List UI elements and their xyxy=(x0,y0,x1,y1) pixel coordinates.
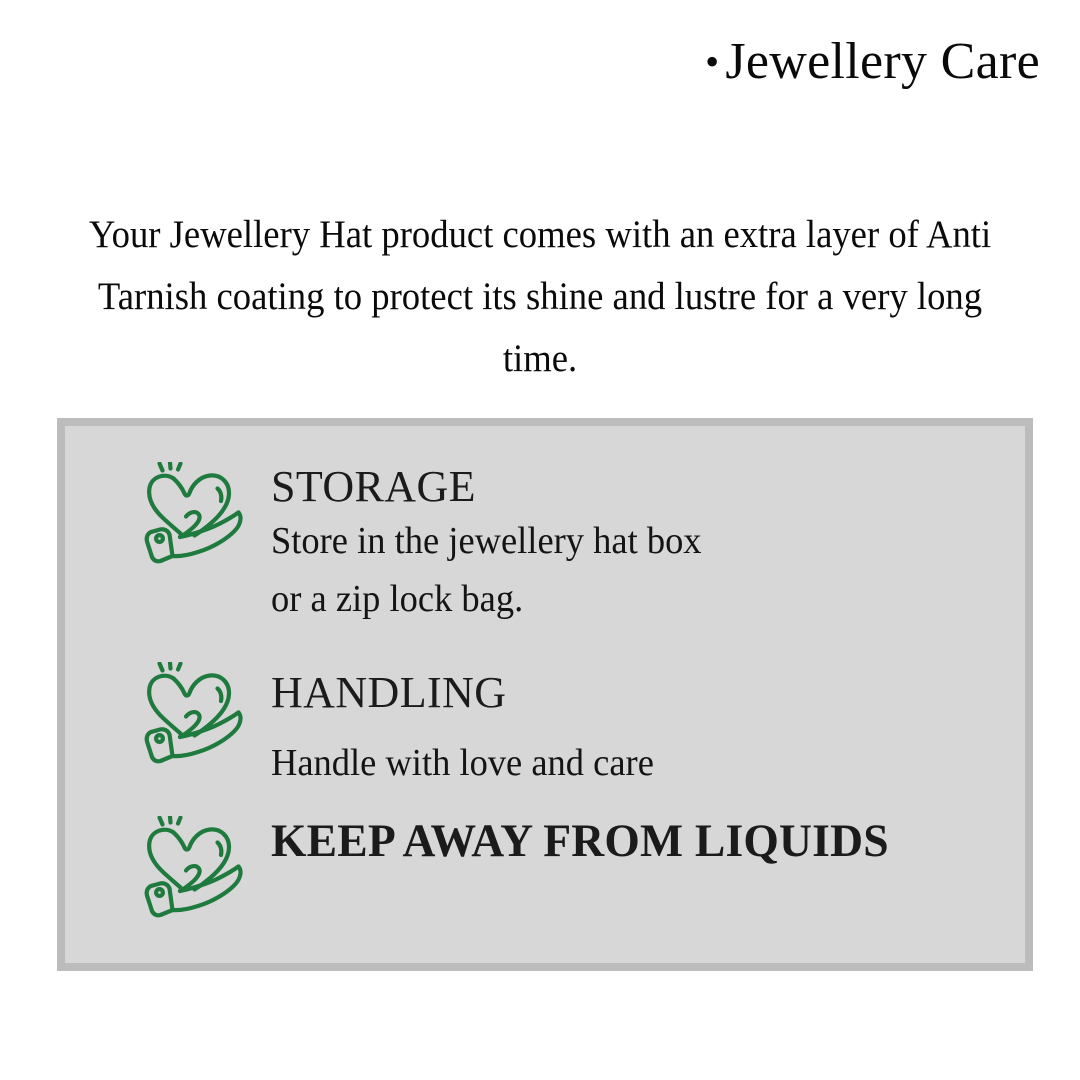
care-item-storage: STORAGE Store in the jewellery hat box o… xyxy=(143,460,1007,628)
care-item-text: KEEP AWAY FROM LIQUIDS xyxy=(271,814,1007,866)
care-item-liquids: KEEP AWAY FROM LIQUIDS xyxy=(143,814,1007,920)
care-instructions-panel: STORAGE Store in the jewellery hat box o… xyxy=(57,418,1033,971)
page-title-text: Jewellery Care xyxy=(725,33,1040,90)
heart-in-hand-icon xyxy=(143,662,247,766)
care-item-line: Handle with love and care xyxy=(271,734,978,792)
heart-in-hand-icon xyxy=(143,462,247,566)
page-title: •Jewellery Care xyxy=(705,34,1040,90)
care-item-text: STORAGE Store in the jewellery hat box o… xyxy=(271,460,1007,628)
care-item-line: Store in the jewellery hat box xyxy=(271,512,978,570)
care-item-heading: STORAGE xyxy=(271,462,1007,512)
intro-paragraph: Your Jewellery Hat product comes with an… xyxy=(89,204,991,390)
care-item-line: or a zip lock bag. xyxy=(271,570,978,628)
care-item-heading: HANDLING xyxy=(271,668,1007,718)
title-bullet-icon: • xyxy=(705,39,719,84)
care-instruction-list: STORAGE Store in the jewellery hat box o… xyxy=(65,426,1025,963)
care-item-handling: HANDLING Handle with love and care xyxy=(143,660,1007,792)
care-item-text: HANDLING Handle with love and care xyxy=(271,660,1007,792)
care-item-heading: KEEP AWAY FROM LIQUIDS xyxy=(271,816,985,866)
heart-in-hand-icon xyxy=(143,816,247,920)
